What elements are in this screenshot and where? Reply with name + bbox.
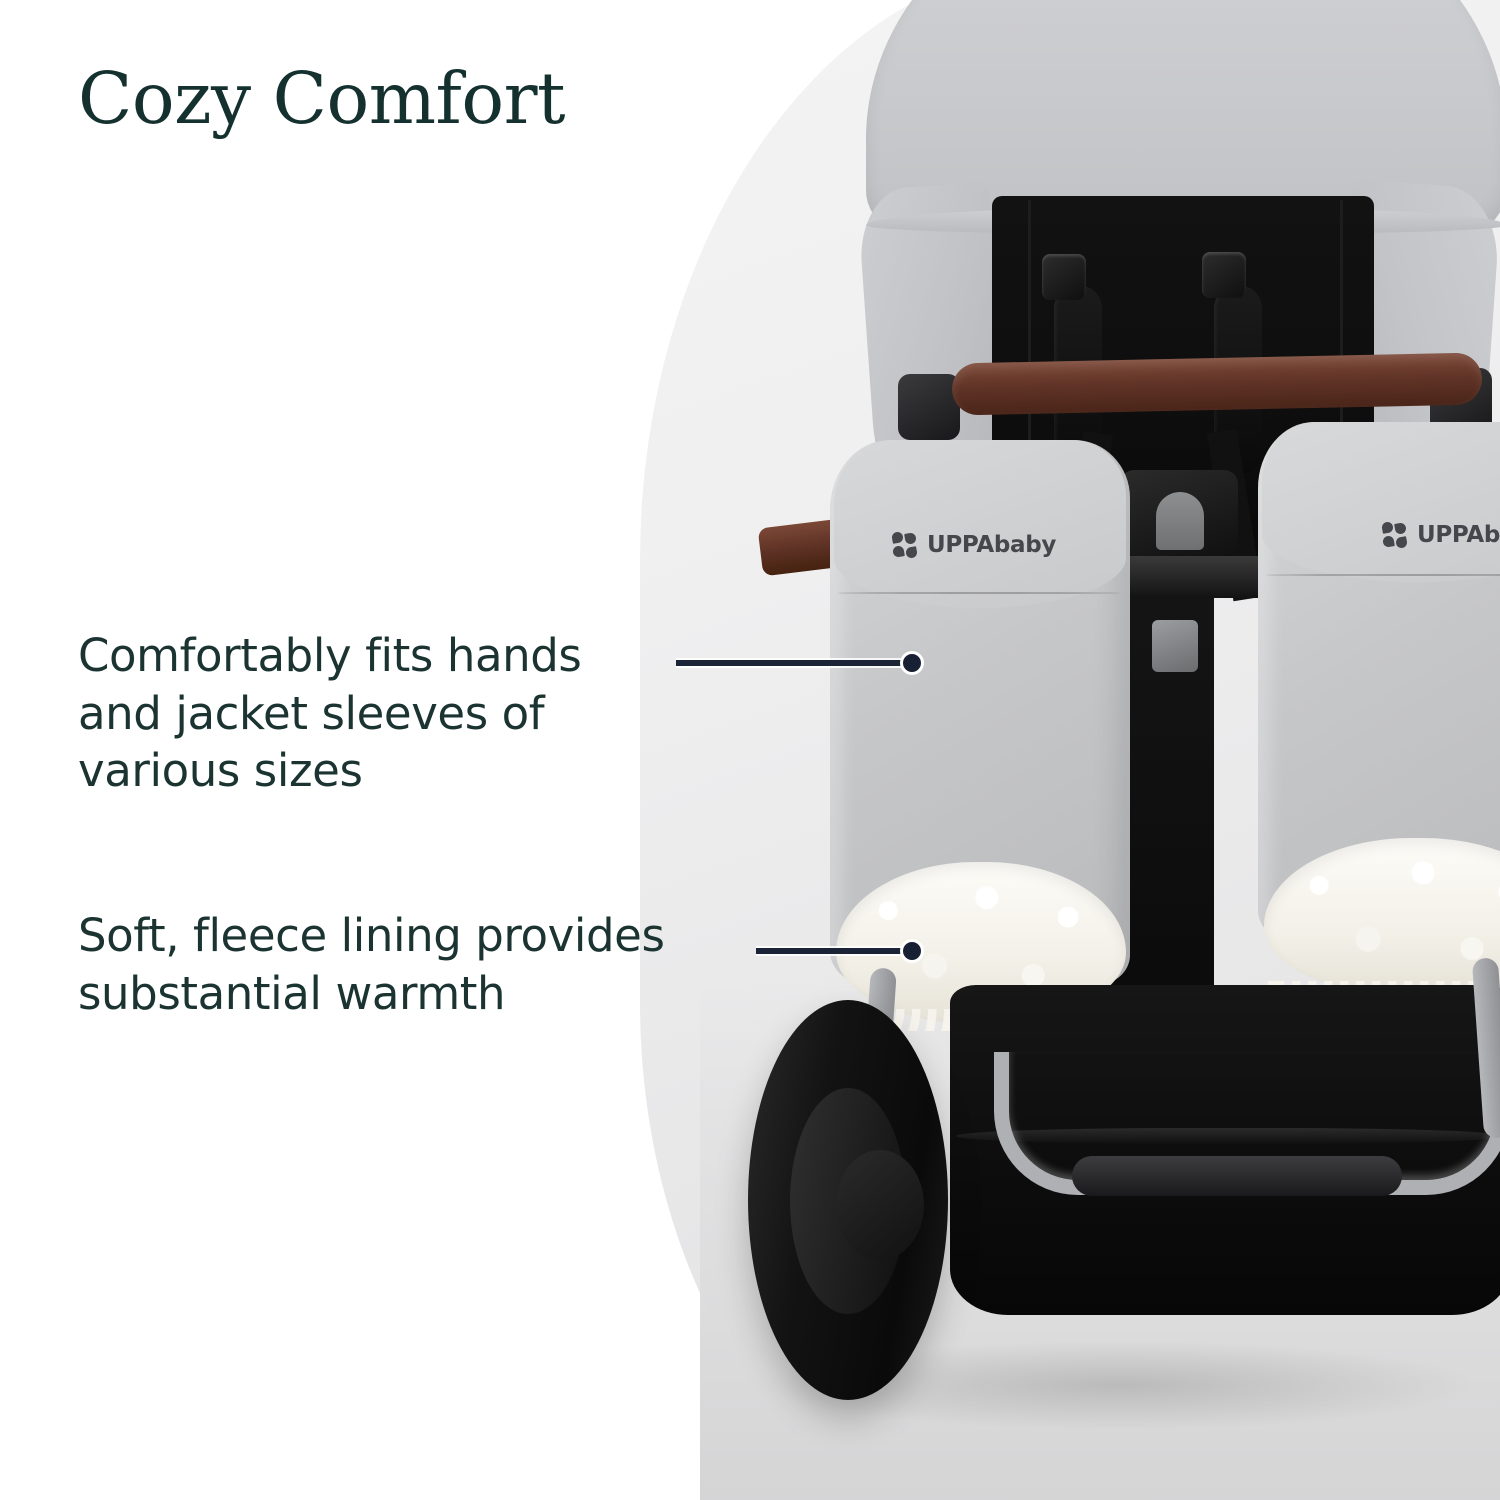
muff-seam-right bbox=[1266, 574, 1500, 576]
ground-shadow bbox=[760, 1340, 1480, 1430]
lower-harness-clip bbox=[1152, 620, 1198, 672]
leather-handlebar bbox=[952, 352, 1483, 415]
four-petal-pinwheel-icon bbox=[1382, 522, 1408, 548]
muff-cuff-right bbox=[1262, 422, 1500, 582]
callout-fleece-text: Soft, fleece lining provides substantial… bbox=[78, 907, 698, 1022]
page-title: Cozy Comfort bbox=[78, 62, 565, 137]
leader-line-fleece bbox=[756, 939, 928, 963]
leader-line-stroke bbox=[676, 660, 902, 666]
leader-dot-marker bbox=[900, 939, 924, 963]
product-photo: UPPAbaby UPPAbaby bbox=[640, 0, 1500, 1500]
leader-dot-marker bbox=[900, 651, 924, 675]
harness-buckle-right bbox=[1202, 252, 1246, 298]
callout-fleece: Soft, fleece lining provides substantial… bbox=[78, 907, 698, 1022]
muff-seam-left bbox=[838, 592, 1120, 594]
frame-hinge-left bbox=[898, 374, 960, 440]
uppababy-logo-left: UPPAbaby bbox=[892, 532, 1056, 558]
leader-line-fit bbox=[676, 651, 928, 675]
buckle-tongue bbox=[1156, 492, 1204, 550]
brand-wordmark: UPPAbaby bbox=[927, 532, 1056, 558]
leader-line-stroke bbox=[756, 948, 902, 954]
infographic-canvas: UPPAbaby UPPAbaby Cozy Co bbox=[0, 0, 1500, 1500]
brand-wordmark: UPPAbaby bbox=[1417, 522, 1500, 548]
callout-fit: Comfortably fits hands and jacket sleeve… bbox=[78, 627, 678, 800]
four-petal-pinwheel-icon bbox=[892, 532, 918, 558]
wheel-hub bbox=[836, 1150, 924, 1260]
callout-fit-text: Comfortably fits hands and jacket sleeve… bbox=[78, 627, 678, 800]
uppababy-logo-right: UPPAbaby bbox=[1382, 522, 1500, 548]
muff-cuff-left bbox=[834, 440, 1126, 608]
frame-grip bbox=[1072, 1156, 1402, 1196]
harness-buckle-left bbox=[1042, 254, 1086, 300]
